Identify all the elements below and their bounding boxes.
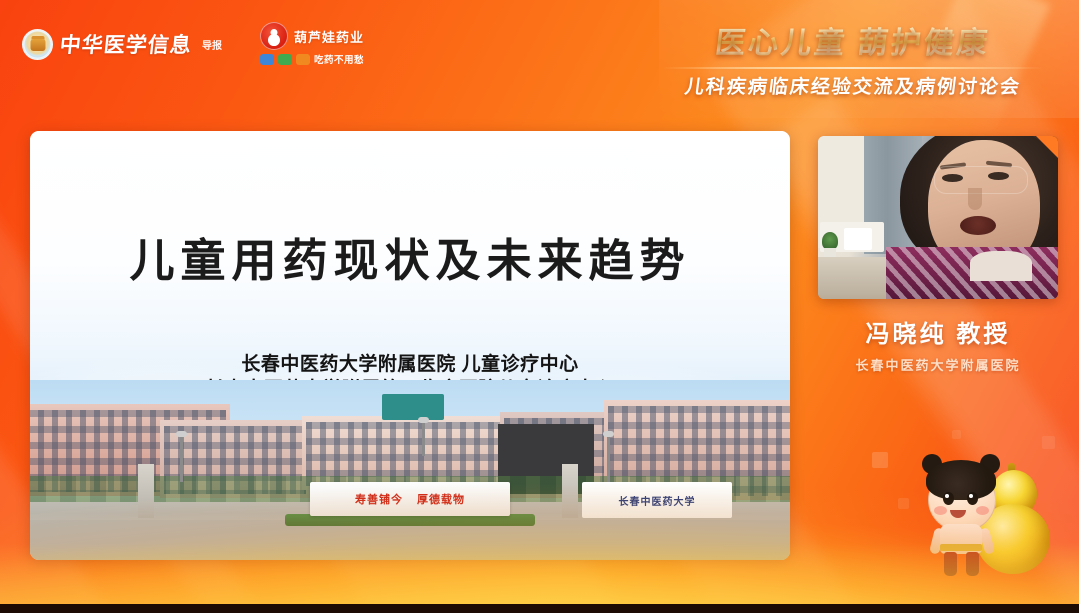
header-logos: 中华医学信息 导报 葫芦娃药业 吃药不用愁 xyxy=(22,22,364,66)
event-title: 医心儿童 葫护健康 xyxy=(650,18,1055,62)
gate-sign-text: 长春中医药大学 xyxy=(619,493,696,508)
logo-primary-suffix: 导报 xyxy=(202,37,222,52)
green-chip-icon xyxy=(278,54,292,65)
logo-china-medical-info-herald: 中华医学信息 导报 xyxy=(22,29,222,60)
huluwa-mascot xyxy=(912,440,1058,580)
logo-secondary-name: 葫芦娃药业 xyxy=(294,27,364,46)
decor-square xyxy=(898,498,909,509)
campus-photo: 寿善铺今 厚德载物 长春中医药大学 xyxy=(30,380,790,560)
event-subtitle: 儿科疾病临床经验交流及病例讨论会 xyxy=(651,72,1054,99)
webinar-stage: 中华医学信息 导报 葫芦娃药业 吃药不用愁 医心儿童 葫护健康 儿科疾病临床经验… xyxy=(0,0,1079,613)
logo-huluwa-pharma: 葫芦娃药业 吃药不用愁 xyxy=(260,22,364,66)
monument-text-left: 寿善铺今 xyxy=(355,491,403,507)
logo-primary-name: 中华医学信息 xyxy=(58,29,193,59)
orange-chip-icon xyxy=(296,54,310,65)
event-banner: 医心儿童 葫护健康 儿科疾病临床经验交流及病例讨论会 xyxy=(653,18,1053,99)
logo-secondary-slogan: 吃药不用愁 xyxy=(314,52,364,66)
blue-chip-icon xyxy=(260,54,274,65)
speaker-video-feed[interactable] xyxy=(818,136,1058,299)
campus-monument-sign: 寿善铺今 厚德载物 xyxy=(310,482,510,516)
speaker-name: 冯晓纯 教授 xyxy=(818,314,1058,349)
banner-divider xyxy=(663,67,1043,69)
gourd-badge-icon xyxy=(260,22,288,50)
slide-title: 儿童用药现状及未来趋势 xyxy=(30,224,790,289)
emblem-seal-icon xyxy=(22,29,53,60)
decor-square xyxy=(952,430,961,439)
decor-square xyxy=(872,452,888,468)
slide-affiliation-line1: 长春中医药大学附属医院 儿童诊疗中心 xyxy=(30,353,790,378)
speaker-caption: 冯晓纯 教授 长春中医药大学附属医院 xyxy=(818,314,1058,374)
presentation-slide[interactable]: 儿童用药现状及未来趋势 长春中医药大学附属医院 儿童诊疗中心 长春中医药大学附属… xyxy=(30,131,790,560)
monument-text-right: 厚德载物 xyxy=(417,491,465,507)
campus-gate-sign: 长春中医药大学 xyxy=(582,482,732,518)
video-corner-accent xyxy=(1034,136,1058,160)
bottom-letterbox-bar xyxy=(0,604,1079,613)
speaker-organization: 长春中医药大学附属医院 xyxy=(818,355,1058,374)
cartoon-child-icon xyxy=(920,456,1006,576)
